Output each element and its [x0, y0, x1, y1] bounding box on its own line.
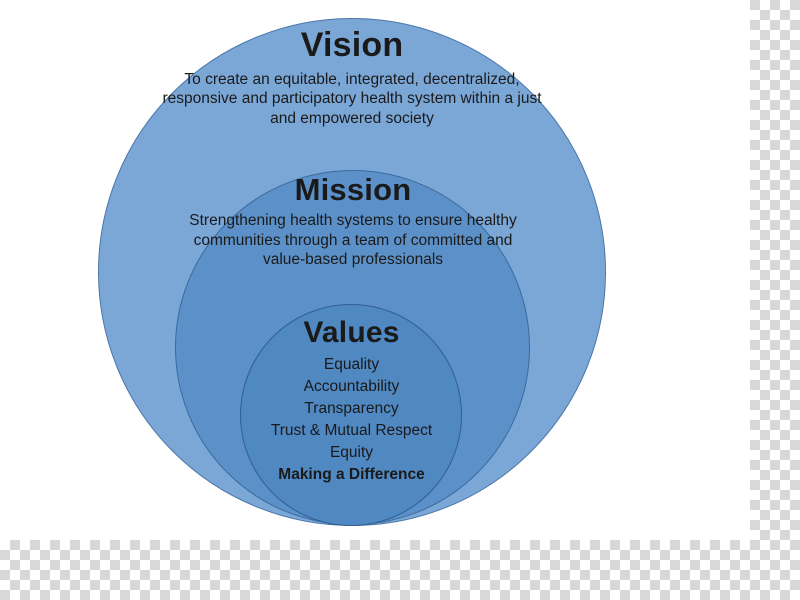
- value-item: Accountability: [250, 376, 453, 398]
- values-text-block: Values EqualityAccountabilityTransparenc…: [250, 314, 453, 486]
- vision-heading: Vision: [148, 24, 556, 68]
- vision-mission-values-diagram: Vision To create an equitable, integrate…: [0, 0, 740, 540]
- value-item: Equity: [250, 442, 453, 464]
- value-item: Transparency: [250, 398, 453, 420]
- mission-description: Strengthening health systems to ensure h…: [188, 211, 518, 270]
- mission-heading: Mission: [188, 170, 518, 210]
- value-item: Equality: [250, 354, 453, 376]
- diagram-canvas-edge: [740, 0, 750, 540]
- values-list: EqualityAccountabilityTransparencyTrust …: [250, 354, 453, 486]
- vision-description: To create an equitable, integrated, dece…: [148, 70, 556, 129]
- value-item: Trust & Mutual Respect: [250, 420, 453, 442]
- value-item: Making a Difference: [250, 464, 453, 486]
- vision-text-block: Vision To create an equitable, integrate…: [148, 24, 556, 129]
- mission-text-block: Mission Strengthening health systems to …: [188, 170, 518, 270]
- values-heading: Values: [250, 314, 453, 352]
